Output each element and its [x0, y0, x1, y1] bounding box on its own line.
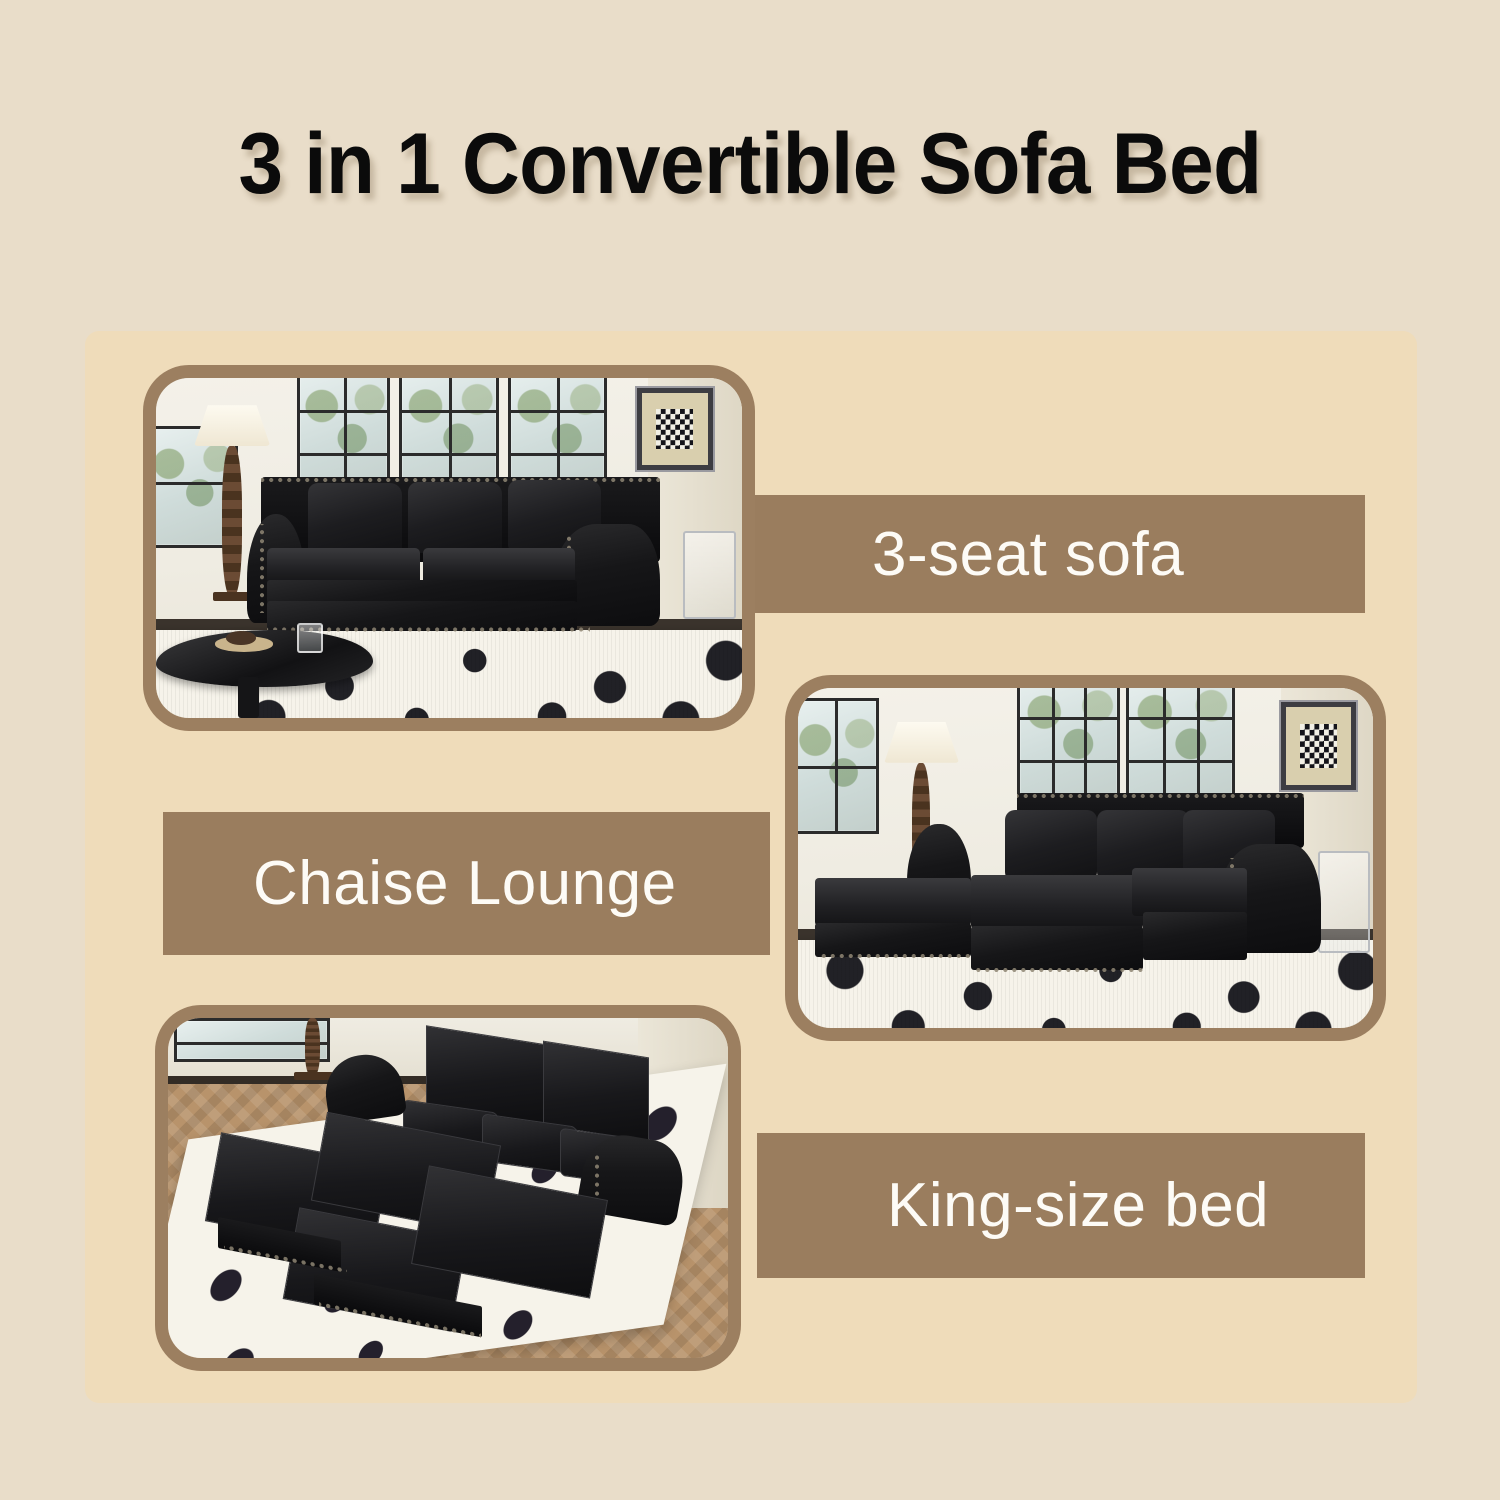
side-cart	[683, 531, 736, 619]
banner-text: King-size bed	[887, 1170, 1269, 1241]
table-leg	[238, 677, 259, 718]
back-cushion	[408, 482, 502, 553]
back-cushion	[308, 483, 402, 554]
page-title: 3 in 1 Convertible Sofa Bed	[53, 115, 1448, 214]
window-icon	[798, 698, 879, 834]
chaise-base-front	[815, 923, 970, 957]
framed-art-icon	[1281, 702, 1356, 790]
banner-text: Chaise Lounge	[253, 848, 677, 919]
infographic-root: 3 in 1 Convertible Sofa Bed 3-seat sofa …	[0, 0, 1500, 1500]
banner-text: 3-seat sofa	[872, 519, 1184, 590]
window-icon	[1017, 688, 1121, 804]
decor-pinecones	[226, 631, 255, 645]
decor-glass-jar	[297, 623, 323, 654]
room-scene-sofa	[156, 378, 742, 718]
side-cart	[1318, 851, 1370, 953]
chaise-seat	[1132, 868, 1247, 916]
window-icon	[1126, 688, 1235, 804]
framed-art-icon	[637, 388, 713, 470]
feature-label-3-seat-sofa: 3-seat sofa	[742, 495, 1365, 613]
chaise-extension-right	[971, 875, 1144, 929]
lamp-base	[213, 592, 248, 601]
chaise-extension-left	[815, 878, 970, 926]
room-scene-chaise	[798, 688, 1373, 1028]
lamp-stem	[222, 446, 242, 596]
room-scene-bed	[168, 1018, 728, 1358]
feature-label-king-size-bed: King-size bed	[757, 1133, 1365, 1278]
chaise-base-front	[1143, 912, 1247, 960]
feature-photo-king-size-bed	[155, 1005, 741, 1371]
back-cushion	[1005, 810, 1097, 881]
feature-label-chaise-lounge: Chaise Lounge	[163, 812, 770, 955]
feature-photo-3-seat-sofa	[143, 365, 755, 731]
floor-lamp-icon	[305, 1018, 320, 1076]
chaise-base-front	[971, 926, 1144, 970]
feature-photo-chaise-lounge	[785, 675, 1386, 1041]
